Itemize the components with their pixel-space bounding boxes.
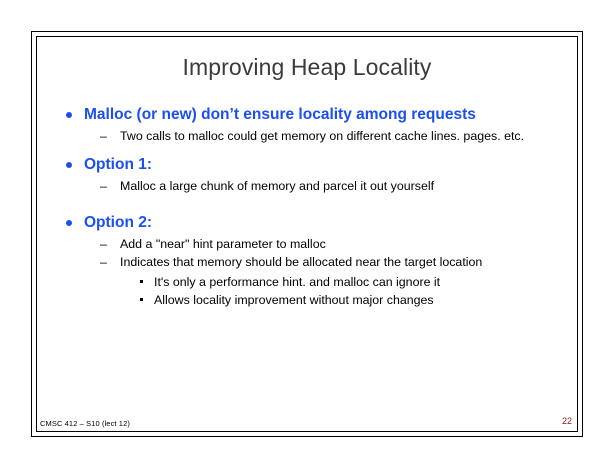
bullet-level3: It's only a performance hint. and malloc… [62, 273, 562, 291]
bullet-text: It's only a performance hint. and malloc… [154, 275, 440, 289]
spacer [62, 144, 562, 155]
bullet-level2: – Indicates that memory should be alloca… [62, 255, 562, 270]
slide-footer: CMSC 412 – S10 (lect 12) [40, 419, 130, 428]
bullet-level2: – Add a "near" hint parameter to malloc [62, 237, 562, 252]
bullet-level1: Malloc (or new) don’t ensure locality am… [62, 105, 562, 124]
round-bullet-icon [66, 220, 72, 226]
round-bullet-icon [66, 162, 72, 168]
bullet-text: Option 1: [84, 156, 152, 173]
round-bullet-icon [66, 112, 72, 118]
small-dot-bullet-icon [140, 280, 143, 283]
bullet-text: Add a "near" hint parameter to malloc [120, 237, 326, 251]
bullet-text: Malloc (or new) don’t ensure locality am… [84, 106, 476, 123]
bullet-text: Allows locality improvement without majo… [154, 293, 434, 307]
bullet-text: Option 2: [84, 214, 152, 231]
small-dot-bullet-icon [140, 298, 143, 301]
page-title: Improving Heap Locality [36, 54, 578, 81]
bullet-level2: – Two calls to malloc could get memory o… [62, 129, 562, 144]
spacer [62, 194, 562, 213]
bullet-text: Two calls to malloc could get memory on … [120, 129, 524, 143]
bullet-level1: Option 2: [62, 213, 562, 232]
bullet-text: Indicates that memory should be allocate… [120, 255, 482, 269]
en-dash-icon: – [100, 237, 107, 252]
slide-canvas: Improving Heap Locality Malloc (or new) … [0, 0, 605, 468]
en-dash-icon: – [100, 255, 107, 270]
slide-body: Malloc (or new) don’t ensure locality am… [62, 105, 562, 309]
page-number: 22 [540, 416, 572, 426]
bullet-level1: Option 1: [62, 155, 562, 174]
en-dash-icon: – [100, 129, 107, 144]
bullet-level2: – Malloc a large chunk of memory and par… [62, 179, 562, 194]
bullet-level3: Allows locality improvement without majo… [62, 291, 562, 309]
bullet-text: Malloc a large chunk of memory and parce… [120, 179, 434, 193]
en-dash-icon: – [100, 179, 107, 194]
